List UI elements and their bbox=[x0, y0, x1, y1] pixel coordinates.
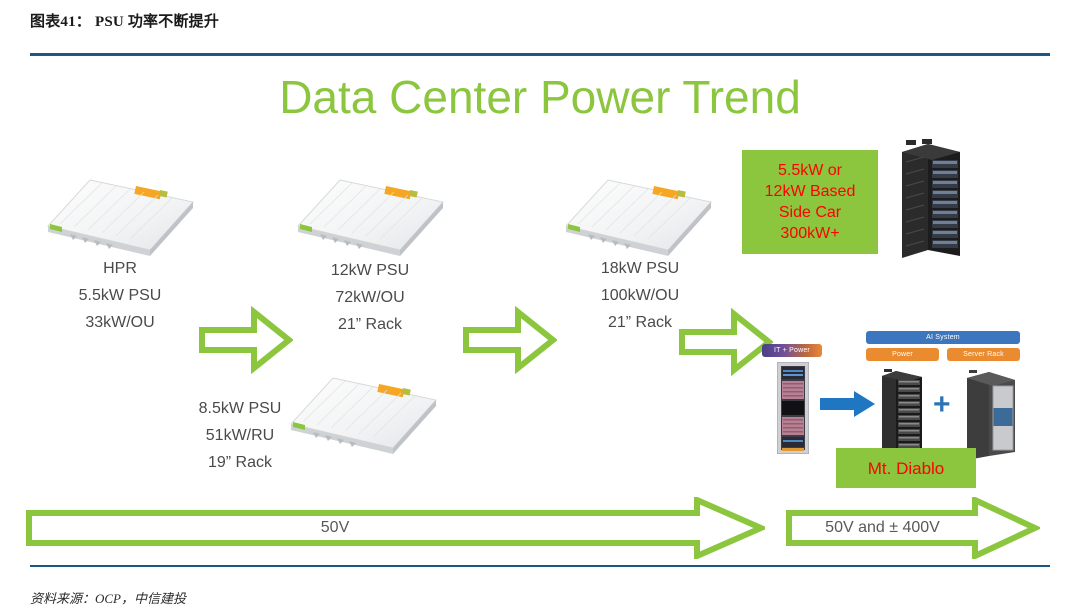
it-power-rack bbox=[777, 362, 809, 454]
flow-arrow-3-icon bbox=[678, 308, 773, 376]
callout-line: 300kW+ bbox=[780, 223, 839, 244]
figure-caption: 图表41： PSU 功率不断提升 bbox=[30, 10, 219, 31]
bottom-divider bbox=[30, 565, 1050, 567]
callout-mt-diablo: Mt. Diablo bbox=[836, 448, 976, 488]
server-rack-top-right bbox=[888, 138, 968, 264]
source-note: 资料来源：OCP，中信建投 bbox=[30, 588, 186, 607]
stage-line: 5.5kW PSU bbox=[20, 282, 220, 309]
stage-line: 100kW/OU bbox=[545, 282, 735, 309]
psu-board-18kw bbox=[558, 172, 718, 262]
label-server-rack: Server Rack bbox=[947, 348, 1020, 361]
stage-line: 18kW PSU bbox=[545, 255, 735, 282]
stage-line: 12kW PSU bbox=[275, 257, 465, 284]
voltage-arrow-right: 50V and ± 400V bbox=[785, 497, 1040, 559]
stage-line: 8.5kW PSU bbox=[150, 395, 330, 422]
plus-sign: + bbox=[933, 390, 951, 420]
flow-arrow-2-icon bbox=[462, 306, 557, 374]
blue-flow-arrow-icon bbox=[820, 390, 876, 423]
stage-line: HPR bbox=[20, 255, 220, 282]
stage-line: 51kW/RU bbox=[150, 422, 330, 449]
callout-line: Side Car bbox=[779, 202, 841, 223]
stage-line: 72kW/OU bbox=[275, 284, 465, 311]
label-ai-system: AI System bbox=[866, 331, 1020, 344]
voltage-arrow-left-label: 50V bbox=[0, 519, 705, 537]
label-power: Power bbox=[866, 348, 939, 361]
top-divider bbox=[30, 53, 1050, 56]
figure-slide: 图表41： PSU 功率不断提升 Data Center Power Trend bbox=[0, 0, 1080, 613]
voltage-arrow-left: 50V bbox=[25, 497, 765, 559]
callout-side-car: 5.5kW or 12kW Based Side Car 300kW+ bbox=[742, 150, 878, 254]
stage-line: 33kW/OU bbox=[20, 309, 220, 336]
stage-label-8p5kw: 8.5kW PSU 51kW/RU 19” Rack bbox=[150, 395, 330, 476]
callout-line: 5.5kW or bbox=[778, 160, 842, 181]
label-it-power: IT + Power bbox=[762, 344, 822, 357]
stage-line: 21” Rack bbox=[275, 311, 465, 338]
slide-title: Data Center Power Trend bbox=[0, 70, 1080, 124]
stage-label-hpr: HPR 5.5kW PSU 33kW/OU bbox=[20, 255, 220, 336]
psu-board-12kw bbox=[290, 172, 450, 262]
stage-line: 19” Rack bbox=[150, 449, 330, 476]
ai-server-rack bbox=[876, 368, 926, 456]
psu-board-hpr bbox=[40, 172, 200, 262]
stage-label-12kw: 12kW PSU 72kW/OU 21” Rack bbox=[275, 257, 465, 338]
voltage-arrow-right-label: 50V and ± 400V bbox=[755, 519, 1010, 537]
callout-line: Mt. Diablo bbox=[868, 458, 945, 479]
callout-line: 12kW Based bbox=[765, 181, 856, 202]
